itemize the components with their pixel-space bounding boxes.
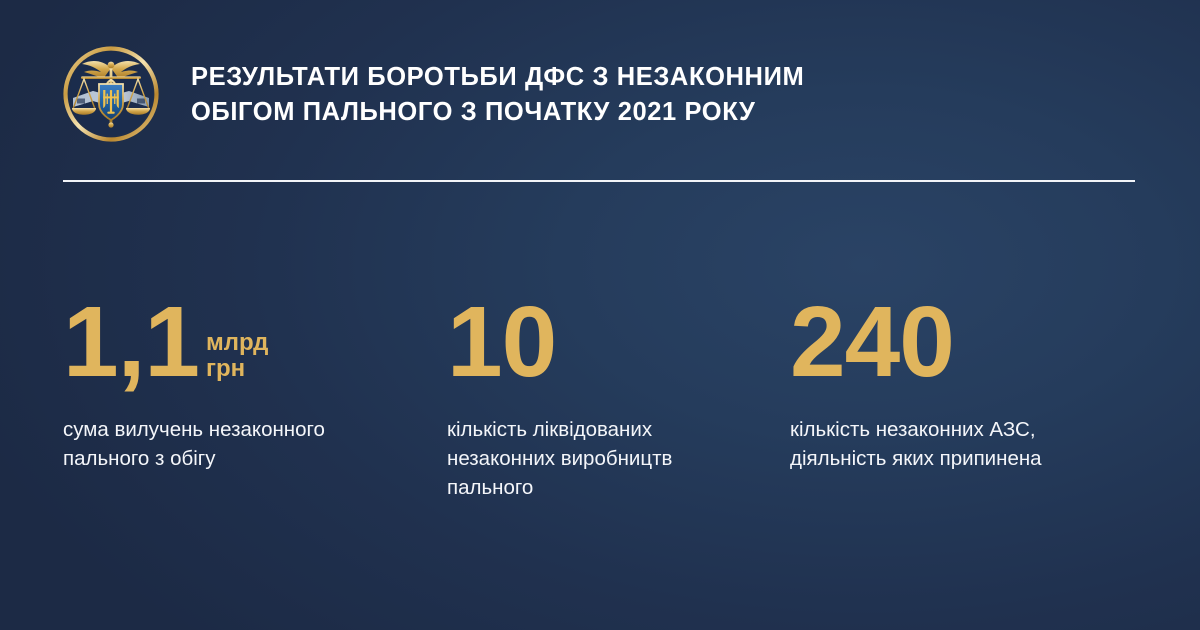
stat-number: 1,1	[63, 296, 199, 388]
stat-unit: млрд грн	[206, 330, 268, 388]
header: РЕЗУЛЬТАТИ БОРОТЬБИ ДФС З НЕЗАКОННИМ ОБІ…	[63, 46, 1138, 142]
stat-block-closed-gas-stations: 240 кількість незаконних АЗС, діяльність…	[790, 288, 1120, 473]
state-tax-service-emblem-icon	[63, 46, 159, 142]
stat-block-seized-fuel-amount: 1,1 млрд грн сума вилучень незаконного п…	[63, 288, 423, 473]
statistics-group: 1,1 млрд грн сума вилучень незаконного п…	[0, 288, 1200, 538]
infographic-poster: РЕЗУЛЬТАТИ БОРОТЬБИ ДФС З НЕЗАКОННИМ ОБІ…	[0, 0, 1200, 630]
stat-block-liquidated-production: 10 кількість ліквідованих незаконних вир…	[447, 288, 747, 502]
header-divider	[63, 180, 1135, 182]
stat-value-row: 10	[447, 288, 747, 388]
stat-caption: кількість ліквідованих незаконних виробн…	[447, 415, 747, 502]
page-title: РЕЗУЛЬТАТИ БОРОТЬБИ ДФС З НЕЗАКОННИМ ОБІ…	[191, 58, 804, 130]
stat-number: 240	[790, 296, 954, 388]
title-line-1: РЕЗУЛЬТАТИ БОРОТЬБИ ДФС З НЕЗАКОННИМ	[191, 60, 804, 95]
stat-number: 10	[447, 296, 556, 388]
title-line-2: ОБІГОМ ПАЛЬНОГО З ПОЧАТКУ 2021 РОКУ	[191, 95, 804, 130]
stat-value-row: 240	[790, 288, 1120, 388]
stat-caption: кількість незаконних АЗС, діяльність яки…	[790, 415, 1120, 473]
stat-value-row: 1,1 млрд грн	[63, 288, 423, 388]
stat-caption: сума вилучень незаконного пального з обі…	[63, 415, 423, 473]
